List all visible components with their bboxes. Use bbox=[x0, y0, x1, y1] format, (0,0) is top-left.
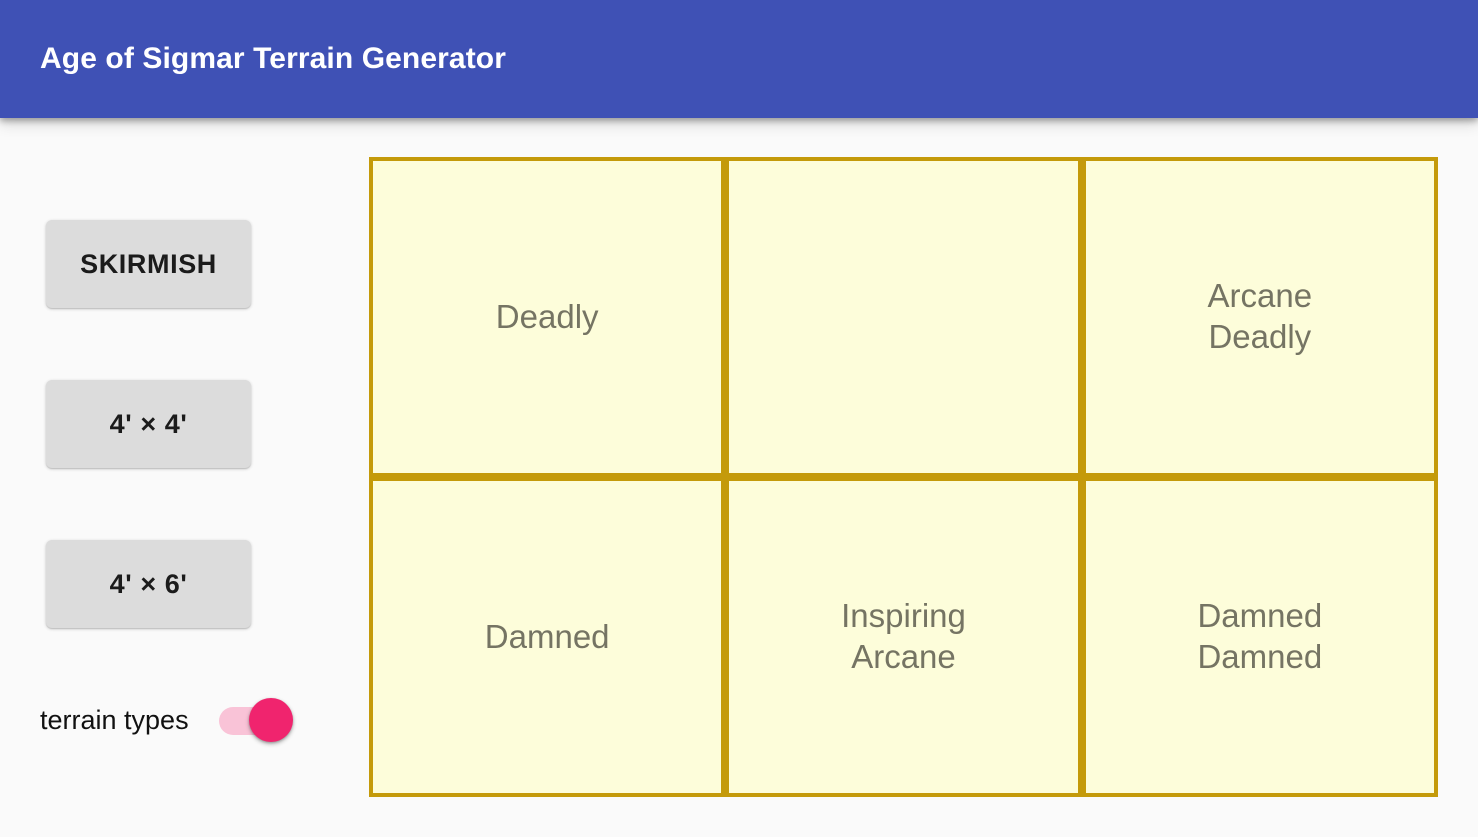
terrain-cell[interactable]: Deadly bbox=[373, 161, 721, 473]
page-content: SKIRMISH 4' × 4' 4' × 6' terrain types D… bbox=[0, 118, 1478, 837]
terrain-cell-label: Deadly bbox=[1208, 317, 1311, 358]
terrain-cell-label: Arcane bbox=[1208, 276, 1313, 317]
terrain-cell[interactable]: Damned bbox=[373, 481, 721, 793]
terrain-cell-label: Damned bbox=[485, 617, 610, 658]
terrain-board-grid: DeadlyArcaneDeadlyDamnedInspiringArcaneD… bbox=[369, 157, 1438, 797]
board-size-button-4x4[interactable]: 4' × 4' bbox=[46, 380, 251, 468]
terrain-cell[interactable]: ArcaneDeadly bbox=[1086, 161, 1434, 473]
controls-panel: SKIRMISH 4' × 4' 4' × 6' terrain types bbox=[0, 118, 360, 837]
mode-button-skirmish[interactable]: SKIRMISH bbox=[46, 220, 251, 308]
page-title: Age of Sigmar Terrain Generator bbox=[40, 42, 506, 76]
terrain-types-toggle[interactable] bbox=[219, 698, 295, 742]
terrain-cell-label: Arcane bbox=[851, 637, 956, 678]
terrain-cell[interactable]: InspiringArcane bbox=[729, 481, 1077, 793]
terrain-cell-label: Damned bbox=[1197, 637, 1322, 678]
terrain-types-label: terrain types bbox=[40, 705, 189, 736]
board-size-button-4x6[interactable]: 4' × 6' bbox=[46, 540, 251, 628]
toggle-thumb-icon bbox=[249, 698, 293, 742]
terrain-cell-label: Damned bbox=[1197, 596, 1322, 637]
terrain-types-row: terrain types bbox=[40, 690, 350, 750]
app-header-bar: Age of Sigmar Terrain Generator bbox=[0, 0, 1478, 118]
terrain-cell-label: Inspiring bbox=[841, 596, 966, 637]
terrain-cell-label: Deadly bbox=[496, 297, 599, 338]
terrain-cell[interactable] bbox=[729, 161, 1077, 473]
terrain-cell[interactable]: DamnedDamned bbox=[1086, 481, 1434, 793]
